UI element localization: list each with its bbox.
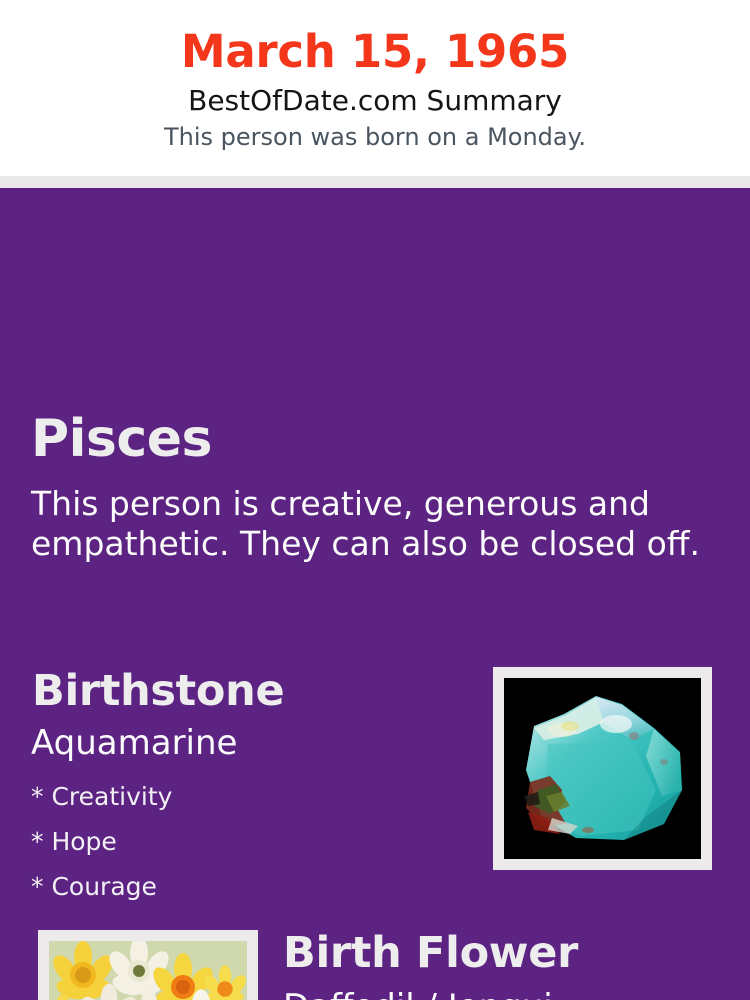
birth-day-note: This person was born on a Monday. xyxy=(0,121,750,153)
page-header: March 15, 1965 BestOfDate.com Summary Th… xyxy=(0,0,750,176)
birthflower-heading: Birth Flower xyxy=(283,928,578,978)
site-name: BestOfDate.com Summary xyxy=(0,82,750,120)
page-title: March 15, 1965 xyxy=(0,26,750,78)
birthstone-traits-list: * Creativity * Hope * Courage xyxy=(31,774,172,909)
birthflower-image-frame xyxy=(38,930,258,1000)
birthstone-image xyxy=(504,678,701,859)
birthstone-image-frame xyxy=(493,667,712,870)
list-item: * Courage xyxy=(31,864,172,909)
aquamarine-crystal-icon xyxy=(504,678,701,859)
list-item: * Hope xyxy=(31,819,172,864)
zodiac-description: This person is creative, generous and em… xyxy=(31,484,711,564)
birthstone-name: Aquamarine xyxy=(31,722,237,764)
daffodil-flowers-icon xyxy=(49,941,247,1000)
birthstone-heading: Birthstone xyxy=(32,666,284,716)
birthflower-name: Daffodil / Jonqui xyxy=(283,986,553,1000)
birthflower-image xyxy=(49,941,247,1000)
zodiac-sign-title: Pisces xyxy=(31,410,212,468)
summary-panel: Pisces This person is creative, generous… xyxy=(0,188,750,1000)
list-item: * Creativity xyxy=(31,774,172,819)
header-divider-top xyxy=(0,176,750,183)
